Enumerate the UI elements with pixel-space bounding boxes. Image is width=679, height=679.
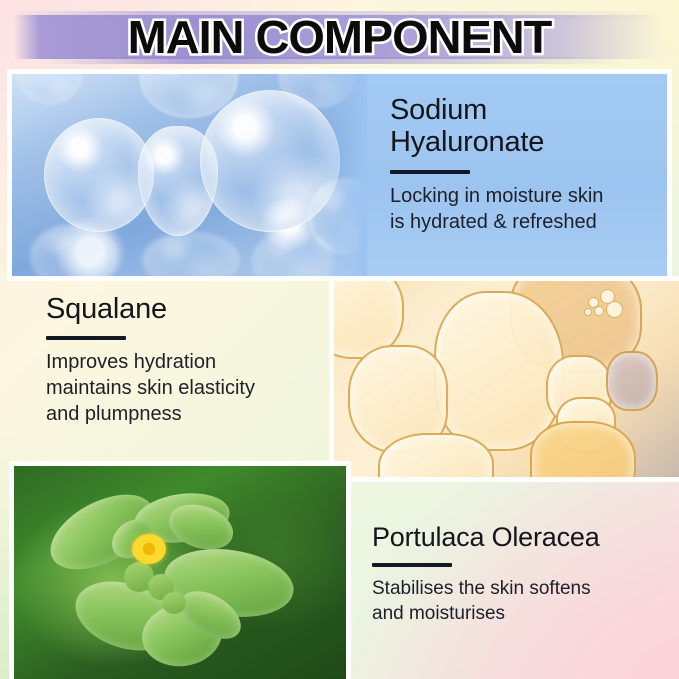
ingredient-description-line-3: and plumpness [46, 403, 182, 425]
ingredient-description-line-2: is hydrated & refreshed [390, 211, 597, 233]
ingredient-description: Locking in moisture skin is hydrated & r… [390, 184, 660, 235]
page-title: MAIN COMPONENT [0, 8, 679, 66]
bubble-shape [252, 230, 334, 276]
ingredient-text-sodium-hyaluronate: Sodium Hyaluronate Locking in moisture s… [390, 94, 660, 235]
ingredient-description: Stabilises the skin softens and moisturi… [372, 577, 662, 626]
ingredient-description-line-2: maintains skin elasticity [46, 377, 255, 399]
oil-cell-shape [378, 433, 494, 477]
oil-dot [606, 301, 623, 318]
oil-cell-shape [606, 351, 658, 411]
ingredient-name: Portulaca Oleracea [372, 522, 662, 552]
ingredient-description-line-1: Stabilises the skin softens [372, 578, 591, 599]
divider-rule [390, 170, 470, 174]
bubble-shape [18, 74, 82, 104]
ingredient-text-portulaca-oleracea: Portulaca Oleracea Stabilises the skin s… [372, 522, 662, 626]
water-bubbles-photo [12, 74, 367, 276]
ingredient-text-squalane: Squalane Improves hydration maintains sk… [46, 293, 346, 427]
divider-rule [372, 563, 452, 567]
oil-dot [584, 308, 592, 316]
ingredient-description-line-2: and moisturises [372, 603, 505, 624]
ingredient-name: Squalane [46, 293, 346, 325]
infographic-poster: MAIN COMPONENT Sodium Hyaluronate Lockin… [0, 0, 679, 679]
yellow-flower-shape [132, 534, 166, 564]
bubble-shape [142, 232, 240, 276]
ingredient-description: Improves hydration maintains skin elasti… [46, 350, 346, 427]
oil-bubble-cluster [584, 289, 624, 317]
oil-cell-shape [434, 291, 564, 451]
ingredient-description-line-1: Improves hydration [46, 351, 216, 373]
ingredient-name-line-2: Hyaluronate [390, 126, 544, 158]
oil-cell-shape [530, 421, 636, 477]
ingredient-description-line-1: Locking in moisture skin [390, 185, 603, 207]
bubble-shape [30, 224, 118, 276]
bud-shape [162, 592, 186, 614]
ingredient-name-line-1: Sodium [390, 94, 487, 126]
ingredient-name: Sodium Hyaluronate [390, 94, 660, 159]
oil-droplets-photo [334, 281, 679, 477]
purslane-plant-photo [14, 466, 346, 679]
oil-dot [594, 306, 604, 316]
divider-rule [46, 336, 126, 340]
